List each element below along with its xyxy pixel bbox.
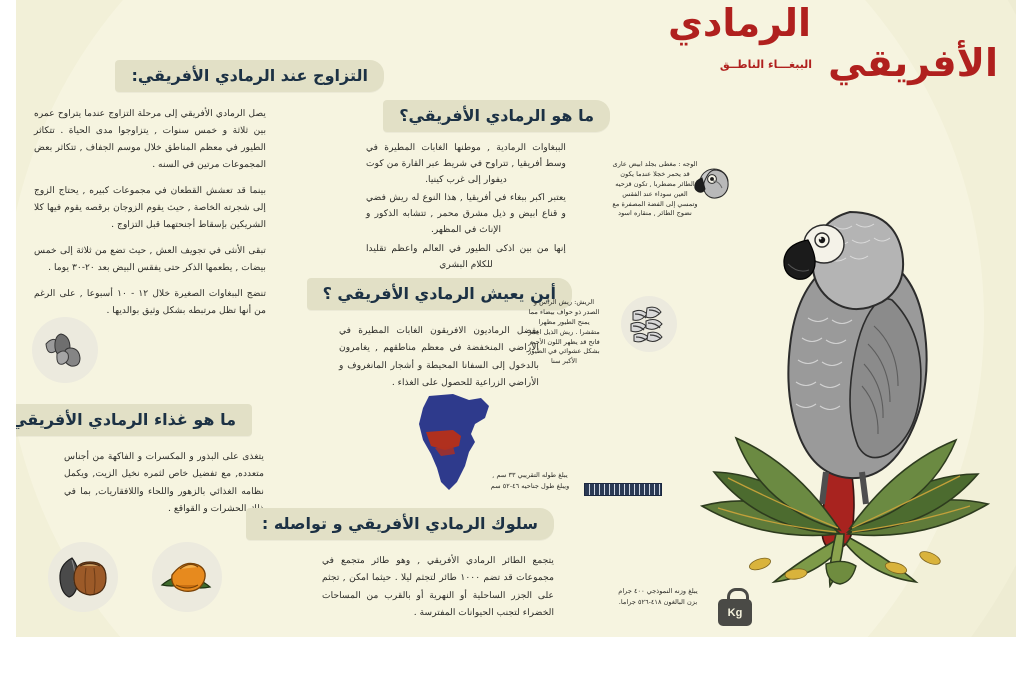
heading-mating: التزاوج عند الرمادي الأفريقي: [115, 60, 384, 92]
feather-pattern-icon [627, 302, 671, 346]
seeds-badge [32, 317, 98, 383]
text-mating: يصل الرمادي الأفريقي إلى مرحلة التزاوج ع… [34, 105, 266, 328]
feather-pattern-badge [621, 296, 677, 352]
fruit-icon [158, 555, 216, 599]
bottom-margin [0, 637, 1024, 689]
heading-food: ما هو غذاء الرمادي الأفريقي ؟ [0, 404, 252, 436]
text-what-is: الببغاوات الرمادية , موطنها الغابات المط… [366, 140, 566, 273]
paragraph: يتجمع الطائر الرمادي الأفريقي , وهو طائر… [322, 552, 554, 622]
left-margin [0, 0, 16, 637]
paragraph: يصل الرمادي الأفريقي إلى مرحلة التزاوج ع… [34, 105, 266, 173]
callout-length: يبلغ طوله التقريبي ٣٣ سم , ويبلغ طول جنا… [490, 470, 570, 491]
poster-title: الرمادي الأفريقي الببغـــاء الناطــق [668, 4, 998, 83]
title-line-1: الرمادي [668, 4, 998, 43]
paragraph: بينما قد تعشش القطعان في مجموعات كبيره ,… [34, 182, 266, 233]
text-food: يتغذى على البذور و المكسرات و الفاكهة من… [64, 448, 264, 527]
poster-canvas: الرمادي الأفريقي الببغـــاء الناطــق الت… [0, 0, 1024, 689]
paragraph: يفضل الرماديون الافريقون الغابات المطيرة… [339, 322, 539, 392]
paragraph: إنها من بين اذكى الطيور في العالم واعظم … [366, 241, 566, 273]
paragraph: تبقى الأنثى في تجويف العش , حيث تضع من ث… [34, 242, 266, 276]
title-subtitle: الببغـــاء الناطــق [720, 58, 812, 83]
title-line-2: الأفريقي [828, 44, 998, 83]
paragraph: يعتبر اكبر ببغاء في أفريقيا , هذا النوع … [366, 190, 566, 238]
paragraph: تنضج الببغاوات الصغيرة خلال ١٢ - ١٠ أسبو… [34, 285, 266, 319]
fruit-badge [152, 542, 222, 612]
kg-label: Kg [718, 599, 752, 626]
heading-food-label: ما هو غذاء الرمادي الأفريقي ؟ [0, 410, 236, 429]
nuts-badge [48, 542, 118, 612]
paragraph: الببغاوات الرمادية , موطنها الغابات المط… [366, 140, 566, 188]
foliage-illustration [664, 378, 1024, 588]
heading-what-is: ما هو الرمادي الأفريقي؟ [383, 100, 610, 132]
text-behavior: يتجمع الطائر الرمادي الأفريقي , وهو طائر… [322, 552, 554, 631]
seeds-icon [42, 330, 88, 370]
callout-feathers: الريش: ريش الرأس و الصدر ذو حواف بيضاء م… [528, 298, 600, 367]
right-margin [1016, 0, 1024, 637]
paragraph: يتغذى على البذور و المكسرات و الفاكهة من… [64, 448, 264, 518]
heading-behavior: سلوك الرمادي الأفريقي و تواصله : [246, 508, 554, 540]
callout-weight: يبلغ وزنه النموذجي ٤٠٠ جرام بزن البالغون… [618, 586, 698, 607]
callout-face: الوجه : مغطى بجلد ابيض عارى قد يحمر خجلا… [612, 160, 698, 219]
weight-lock-icon: Kg [718, 588, 752, 626]
nuts-icon [56, 555, 110, 599]
ruler-icon [584, 483, 662, 496]
